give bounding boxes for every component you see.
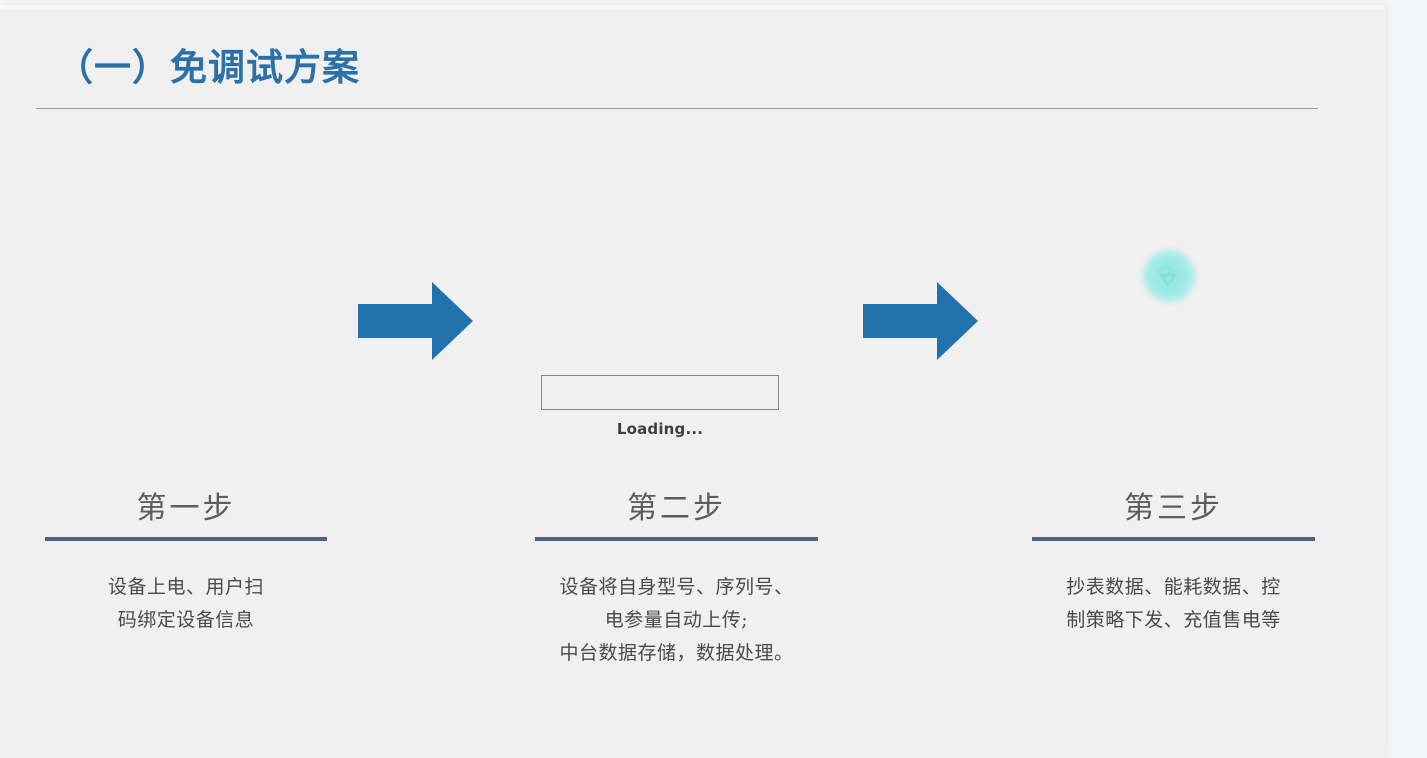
step-3-underline [1032,537,1315,541]
teal-orb-decoration [1142,249,1196,303]
step-1-underline [45,537,327,541]
slide-canvas: （一）免调试方案 Loading... [0,5,1385,758]
step-1-description: 设备上电、用户扫 码绑定设备信息 [45,571,327,637]
slide-root: （一）免调试方案 Loading... [0,0,1427,758]
step-column-2: 第二步 设备将自身型号、序列号、 电参量自动上传; 中台数据存储，数据处理。 [535,487,818,670]
step-1-heading: 第一步 [45,487,327,531]
title-divider [36,108,1318,109]
step-2-heading: 第二步 [535,487,818,531]
step-column-3: 第三步 抄表数据、能耗数据、控 制策略下发、充值售电等 [1032,487,1315,637]
loading-placeholder: Loading... [541,375,779,438]
geometric-logo-icon [1155,262,1183,290]
step-column-1: 第一步 设备上电、用户扫 码绑定设备信息 [45,487,327,637]
loading-label: Loading... [541,420,779,438]
step-3-heading: 第三步 [1032,487,1315,531]
step-3-description: 抄表数据、能耗数据、控 制策略下发、充值售电等 [1032,571,1315,637]
arrow-step2-to-step3-icon [863,282,978,360]
slide-top-strip [0,5,1385,10]
step-2-description: 设备将自身型号、序列号、 电参量自动上传; 中台数据存储，数据处理。 [535,571,818,670]
page-title: （一）免调试方案 [56,37,360,91]
step-2-underline [535,537,818,541]
loading-image-frame [541,375,779,410]
arrow-step1-to-step2-icon [358,282,473,360]
